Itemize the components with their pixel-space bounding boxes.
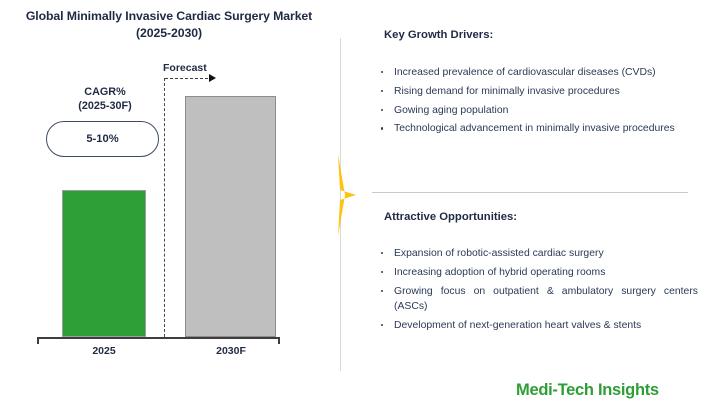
list-item: Development of next-generation heart val…	[376, 318, 698, 333]
list-item-text: Gowing aging population	[394, 105, 508, 116]
chart-panel: Global Minimally Invasive Cardiac Surger…	[0, 0, 340, 411]
x-axis-tick-right	[278, 337, 280, 344]
forecast-arrow-line	[165, 78, 213, 79]
bullet-dot-icon	[381, 90, 383, 92]
bar-2030f	[185, 96, 276, 337]
attractive-opportunities-heading: Attractive Opportunities:	[384, 211, 517, 223]
list-item: Increasing adoption of hybrid operating …	[376, 265, 698, 280]
forecast-arrow-head-icon	[209, 74, 216, 82]
x-axis-tick-left	[37, 337, 39, 344]
bullet-dot-icon	[381, 290, 383, 292]
section-divider	[372, 192, 688, 193]
list-item: Technological advancement in minimally i…	[376, 121, 698, 136]
list-item-text: Increasing adoption of hybrid operating …	[394, 267, 605, 278]
list-item-text: Increased prevalence of cardiovascular d…	[394, 67, 656, 78]
list-item-text: Technological advancement in minimally i…	[394, 123, 675, 134]
list-item: Expansion of robotic-assisted cardiac su…	[376, 246, 698, 261]
cagr-caption-line-2: (2025-30F)	[38, 99, 172, 113]
list-item: Increased prevalence of cardiovascular d…	[376, 65, 698, 80]
cagr-caption-line-1: CAGR%	[38, 85, 172, 99]
bullet-dot-icon	[381, 109, 383, 111]
chevron-right-arrow-icon	[335, 154, 357, 236]
bullet-dot-icon	[381, 271, 383, 273]
forecast-label: Forecast	[163, 62, 207, 74]
x-axis-label-2030f: 2030F	[176, 345, 286, 357]
list-item: Growing focus on outpatient & ambulatory…	[376, 284, 698, 315]
bullet-dot-icon	[381, 71, 383, 73]
x-axis-line	[37, 337, 280, 339]
list-item-text: Development of next-generation heart val…	[394, 320, 641, 331]
list-item: Rising demand for minimally invasive pro…	[376, 84, 698, 99]
cagr-caption: CAGR% (2025-30F)	[38, 85, 172, 113]
list-item-text: Expansion of robotic-assisted cardiac su…	[394, 248, 604, 259]
insights-panel: Key Growth Drivers: Increased prevalence…	[358, 0, 708, 411]
cagr-badge: 5-10%	[46, 121, 159, 157]
list-item-text: Rising demand for minimally invasive pro…	[394, 86, 620, 97]
key-growth-drivers-heading: Key Growth Drivers:	[384, 29, 493, 41]
bar-2025	[62, 190, 146, 337]
forecast-divider-line	[164, 78, 165, 337]
cagr-badge-value: 5-10%	[86, 133, 118, 145]
x-axis-label-2025: 2025	[49, 345, 159, 357]
bar-chart-plot-area: 2025 2030F Forecast CAGR% (2025-30F) 5-1…	[0, 0, 340, 411]
list-item-text: Growing focus on outpatient & ambulatory…	[394, 286, 698, 312]
attractive-opportunities-list: Expansion of robotic-assisted cardiac su…	[376, 246, 698, 337]
key-growth-drivers-list: Increased prevalence of cardiovascular d…	[376, 65, 698, 140]
bullet-dot-icon	[381, 252, 383, 254]
list-item: Gowing aging population	[376, 103, 698, 118]
bullet-dot-icon	[381, 324, 383, 326]
bullet-dot-icon	[381, 127, 383, 129]
brand-logo: Medi-Tech Insights	[516, 381, 659, 400]
